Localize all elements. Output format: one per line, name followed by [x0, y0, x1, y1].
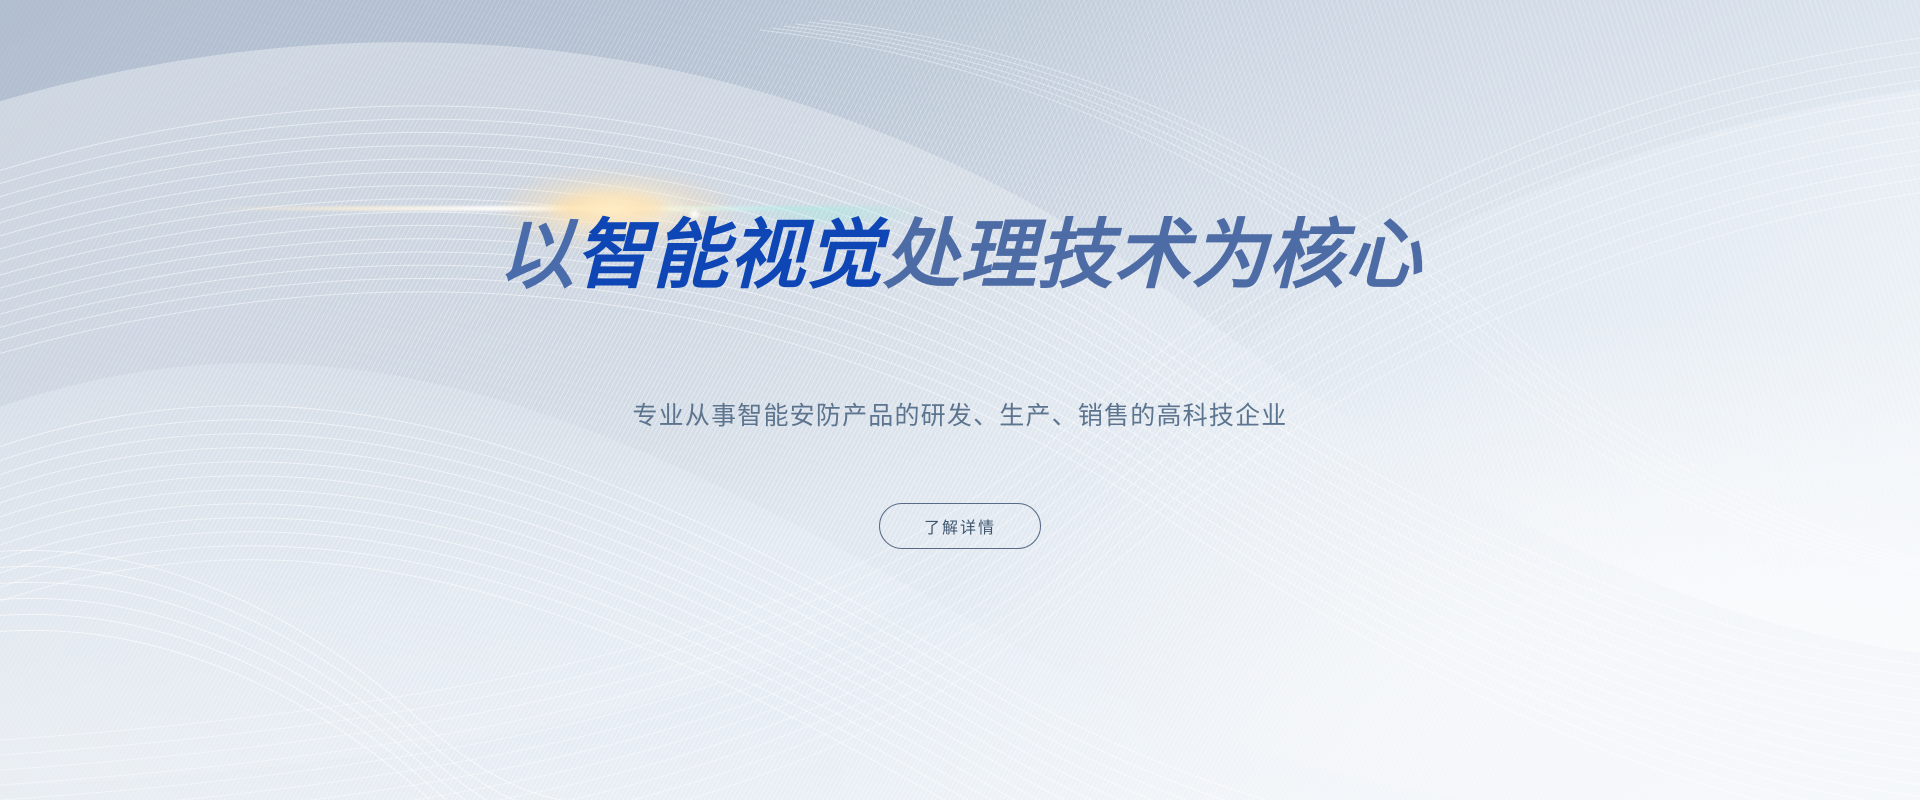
page-title: 以智能视觉处理技术为核心 — [0, 212, 1920, 297]
headline-segment-accent: 智能视觉 — [575, 210, 883, 299]
page-subtitle: 专业从事智能安防产品的研发、生产、销售的高科技企业 — [0, 398, 1920, 436]
learn-more-button[interactable]: 了解详情 — [879, 503, 1041, 549]
headline-segment-lead: 以 — [498, 210, 575, 299]
hero-banner: 以智能视觉处理技术为核心 专业从事智能安防产品的研发、生产、销售的高科技企业 了… — [0, 0, 1920, 800]
headline-segment-rest: 处理技术为核心 — [883, 210, 1422, 299]
hero-content: 以智能视觉处理技术为核心 专业从事智能安防产品的研发、生产、销售的高科技企业 了… — [0, 0, 1920, 800]
